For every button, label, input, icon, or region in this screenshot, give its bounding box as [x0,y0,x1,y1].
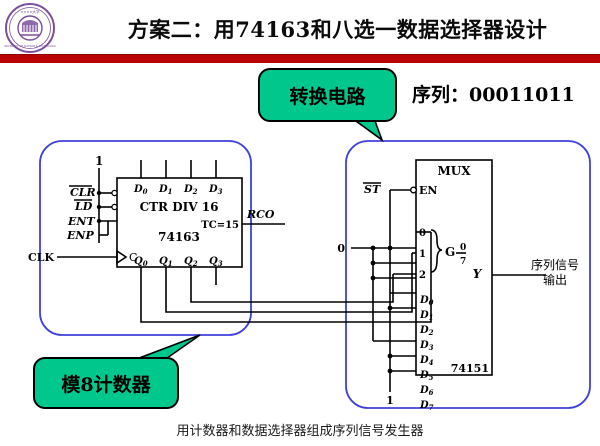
counter-tc-label: TC=15 [201,220,239,231]
mux-strobe-label: ST [364,183,381,196]
mux-d2-label: D2 [419,325,434,337]
counter-q2-label: Q2 [184,256,198,268]
select-bus-wires [141,232,431,322]
bus-one-label: 1 [386,394,394,407]
mux-group-label: G [445,245,455,259]
counter-74163: 1 CLR LD ENT ENP CLK C [28,154,285,285]
counter-input-ld-label: LD [74,200,93,213]
mux-select-0-label: 0 [419,228,426,239]
mux-select-2-label: 2 [419,270,426,281]
mux-d3-label: D3 [419,340,434,352]
callout-mod8-counter: 模8计数器 [33,357,179,409]
counter-q0-label: Q0 [134,256,148,268]
callout-conversion-circuit: 转换电路 [258,68,397,122]
counter-input-ent-label: ENT [67,215,95,228]
mux-group-top-label: 0 [460,243,466,253]
counter-rco-label: RCO [246,208,275,221]
mux-output-pin-label: Y [473,267,483,281]
bus-zero-label: 0 [337,242,345,255]
mux-d6-label: D6 [419,385,434,397]
output-signal-label: 序列信号 输出 [520,258,590,288]
counter-d2-label: D2 [183,184,198,196]
counter-input-clr-label: CLR [70,186,96,199]
counter-d3-label: D3 [208,184,223,196]
figure-caption: 用计数器和数据选择器组成序列信号发生器 [0,420,600,439]
sequence-label: 序列：00011011 [412,80,575,107]
output-signal-label-line1: 序列信号 [520,258,590,273]
mux-part-label: 74151 [451,362,489,375]
counter-input-enp-label: ENP [66,229,94,242]
mux-enable-pin-label: EN [419,184,437,197]
mux-group-bottom-label: 7 [460,257,466,267]
mux-d4-label: D4 [419,355,434,367]
mux-title-label: MUX [437,164,471,178]
counter-q3-label: Q3 [209,256,223,268]
counter-clock-label: CLK [28,251,54,264]
mux-select-1-label: 1 [419,249,426,260]
counter-part-label: 74163 [158,230,200,244]
output-signal-label-line2: 输出 [520,273,590,288]
counter-d1-label: D1 [158,184,173,196]
counter-function-label: CTR DIV 16 [140,200,219,214]
mux-d7-label: D7 [419,400,434,412]
counter-tie-high-label: 1 [95,154,103,168]
mux-d5-label: D5 [419,370,434,382]
slide-root: ××××大学 UNIVERSITY OF SCIENCE & TECHNOLOG… [0,0,600,446]
counter-d0-label: D0 [133,184,148,196]
counter-q1-label: Q1 [159,256,173,268]
data-programming-bus: 0 1 [337,242,416,407]
